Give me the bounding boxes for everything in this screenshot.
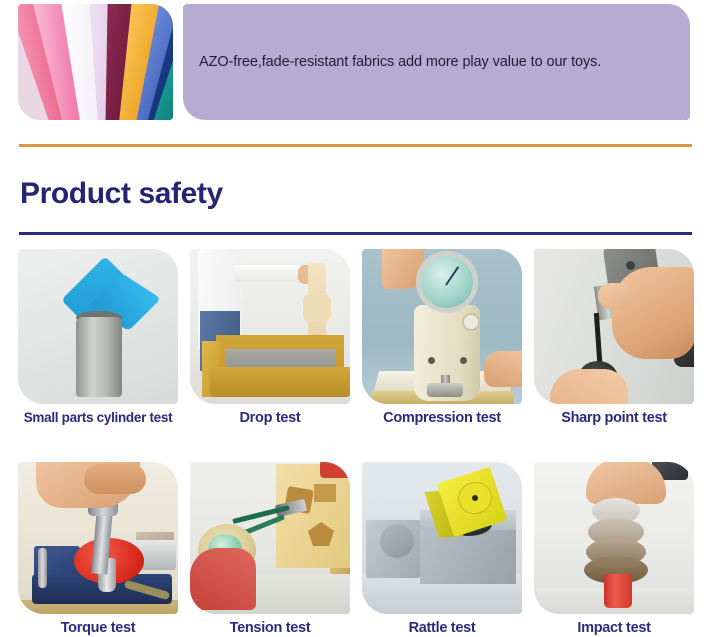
test-card-tension[interactable]: Tension test bbox=[190, 462, 350, 637]
test-card-torque[interactable]: Torque test bbox=[18, 462, 178, 637]
banner-tagline: AZO-free,fade-resistant fabrics add more… bbox=[183, 53, 601, 72]
compression-test-image bbox=[362, 249, 522, 404]
test-card-label: Rattle test bbox=[362, 614, 522, 637]
test-card-label: Tension test bbox=[190, 614, 350, 637]
test-card-label: Small parts cylinder test bbox=[18, 404, 178, 426]
blue-divider bbox=[19, 232, 692, 235]
rattle-test-image bbox=[362, 462, 522, 614]
test-card-label: Compression test bbox=[362, 404, 522, 427]
test-card-compression[interactable]: Compression test bbox=[362, 249, 522, 427]
fabric-rolls-image bbox=[18, 4, 173, 120]
banner-text-panel: AZO-free,fade-resistant fabrics add more… bbox=[183, 4, 690, 120]
page-title: Product safety bbox=[20, 179, 223, 209]
test-card-rattle[interactable]: Rattle test bbox=[362, 462, 522, 637]
test-row: Small parts cylinder test Drop test bbox=[18, 249, 694, 427]
test-card-label: Sharp point test bbox=[534, 404, 694, 427]
drop-test-image bbox=[190, 249, 350, 404]
test-card-small-parts-cylinder[interactable]: Small parts cylinder test bbox=[18, 249, 178, 427]
orange-divider bbox=[19, 144, 692, 147]
impact-test-image bbox=[534, 462, 694, 614]
test-card-label: Drop test bbox=[190, 404, 350, 427]
product-safety-test-grid: Small parts cylinder test Drop test bbox=[18, 249, 694, 637]
torque-test-image bbox=[18, 462, 178, 614]
tension-test-image bbox=[190, 462, 350, 614]
test-card-impact[interactable]: Impact test bbox=[534, 462, 694, 637]
small-parts-cylinder-test-image bbox=[18, 249, 178, 404]
test-card-sharp-point[interactable]: Sharp point test bbox=[534, 249, 694, 427]
test-card-label: Impact test bbox=[534, 614, 694, 637]
test-card-label: Torque test bbox=[18, 614, 178, 637]
top-banner: AZO-free,fade-resistant fabrics add more… bbox=[0, 0, 710, 130]
test-card-drop[interactable]: Drop test bbox=[190, 249, 350, 427]
test-row: Torque test bbox=[18, 462, 694, 637]
sharp-point-test-image bbox=[534, 249, 694, 404]
